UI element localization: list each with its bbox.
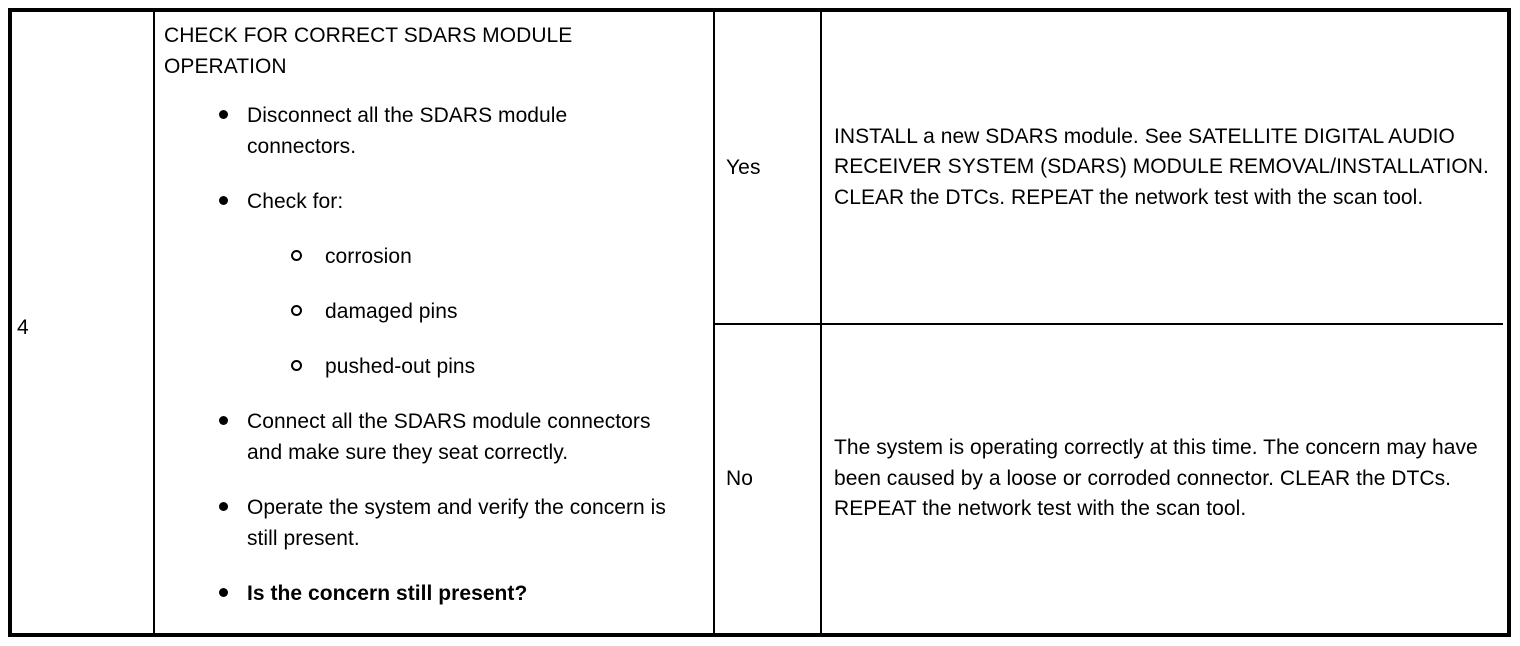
list-item: corrosion [155, 241, 715, 272]
list-item-label: Check for: [247, 186, 677, 217]
answer-cell-no: No [715, 325, 822, 633]
hollow-circle-icon [291, 296, 311, 327]
list-item-label: pushed-out pins [325, 351, 685, 382]
answer-label: No [715, 467, 753, 491]
list-item-label: Is the concern still present? [247, 578, 677, 609]
list-item-label: Disconnect all the SDARS module connecto… [247, 100, 677, 162]
list-item-label: corrosion [325, 241, 685, 272]
list-item-question: Is the concern still present? [155, 578, 715, 609]
filled-bullet-icon [219, 492, 239, 523]
list-item-label: damaged pins [325, 296, 685, 327]
list-item: Operate the system and verify the concer… [155, 492, 715, 554]
table-row: Yes INSTALL a new SDARS module. See SATE… [715, 12, 1503, 325]
instruction-cell-no: The system is operating correctly at thi… [822, 325, 1503, 633]
list-item-label: Operate the system and verify the concer… [247, 492, 677, 554]
instruction-cell-yes: INSTALL a new SDARS module. See SATELLIT… [822, 12, 1503, 323]
instruction-text: The system is operating correctly at thi… [822, 433, 1503, 525]
hollow-circle-icon [291, 351, 311, 382]
action-step-list: Disconnect all the SDARS module connecto… [155, 100, 715, 633]
instruction-text: INSTALL a new SDARS module. See SATELLIT… [822, 122, 1503, 214]
result-cell: Yes INSTALL a new SDARS module. See SATE… [715, 12, 1503, 633]
action-heading: CHECK FOR CORRECT SDARS MODULE OPERATION [164, 20, 694, 82]
list-item: Disconnect all the SDARS module connecto… [155, 100, 715, 162]
step-number: 4 [17, 315, 29, 340]
list-item: Connect all the SDARS module connectors … [155, 406, 715, 468]
hollow-circle-icon [291, 241, 311, 272]
step-number-cell: 4 [12, 12, 155, 633]
filled-bullet-icon [219, 100, 239, 131]
answer-cell-yes: Yes [715, 12, 822, 323]
filled-bullet-icon [219, 406, 239, 437]
list-item: Check for: [155, 186, 715, 217]
filled-bullet-icon [219, 186, 239, 217]
filled-bullet-icon [219, 578, 239, 609]
table-row: No The system is operating correctly at … [715, 325, 1503, 633]
list-item-label: Connect all the SDARS module connectors … [247, 406, 677, 468]
list-item: damaged pins [155, 296, 715, 327]
action-cell: CHECK FOR CORRECT SDARS MODULE OPERATION… [155, 12, 715, 633]
diagnostic-procedure-table: 4 CHECK FOR CORRECT SDARS MODULE OPERATI… [8, 8, 1511, 637]
list-item: pushed-out pins [155, 351, 715, 382]
answer-label: Yes [715, 156, 761, 180]
